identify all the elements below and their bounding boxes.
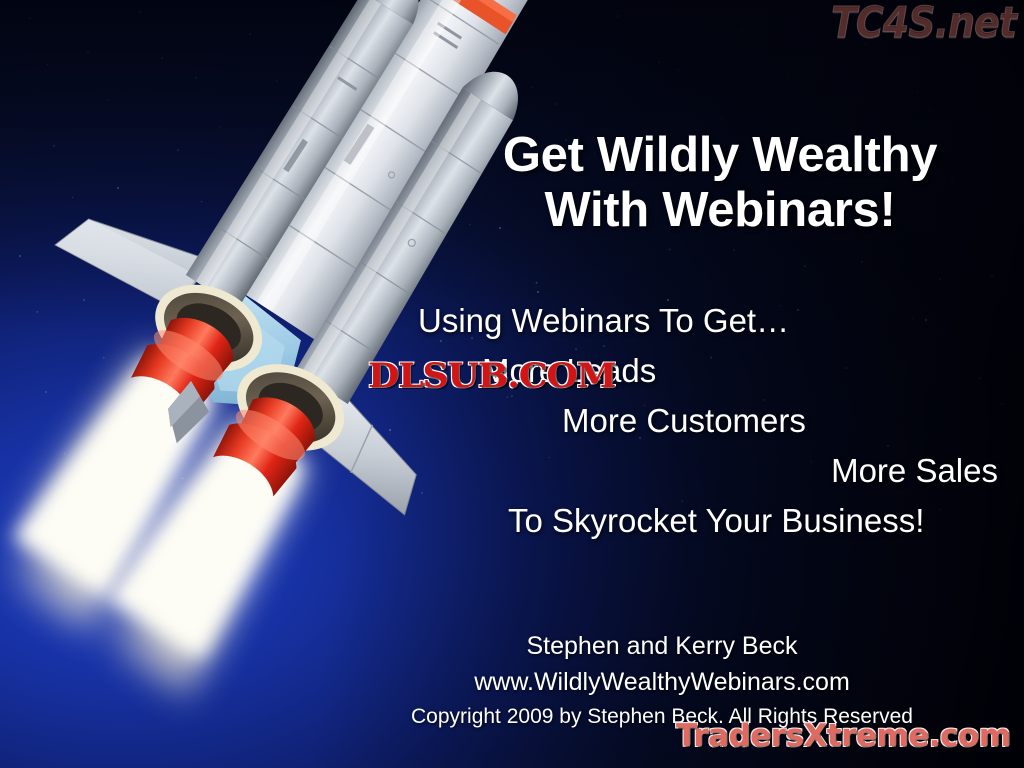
presentation-slide: Get Wildly Wealthy With Webinars! Using …	[0, 0, 1024, 768]
footer-authors: Stephen and Kerry Beck	[300, 628, 1024, 664]
headline-line-2: With Webinars!	[420, 183, 1020, 238]
bullet-line-4: More Sales	[330, 446, 1024, 496]
headline-line-1: Get Wildly Wealthy	[503, 128, 937, 182]
bullet-line-3: More Customers	[330, 396, 1024, 446]
bullet-list: Using Webinars To Get… More Leads More C…	[330, 296, 1024, 546]
bullet-line-5: To Skyrocket Your Business!	[330, 496, 1024, 546]
watermark-traders: TradersXtreme.com	[676, 718, 1011, 754]
watermark-tc4s: TC4S.net	[831, 0, 1016, 47]
bullet-line-1: Using Webinars To Get…	[330, 296, 1024, 346]
footer-website: www.WildlyWealthyWebinars.com	[300, 664, 1024, 700]
slide-headline: Get Wildly Wealthy With Webinars!	[420, 128, 1020, 238]
watermark-dlsub: DLSUB.COM	[368, 356, 615, 396]
